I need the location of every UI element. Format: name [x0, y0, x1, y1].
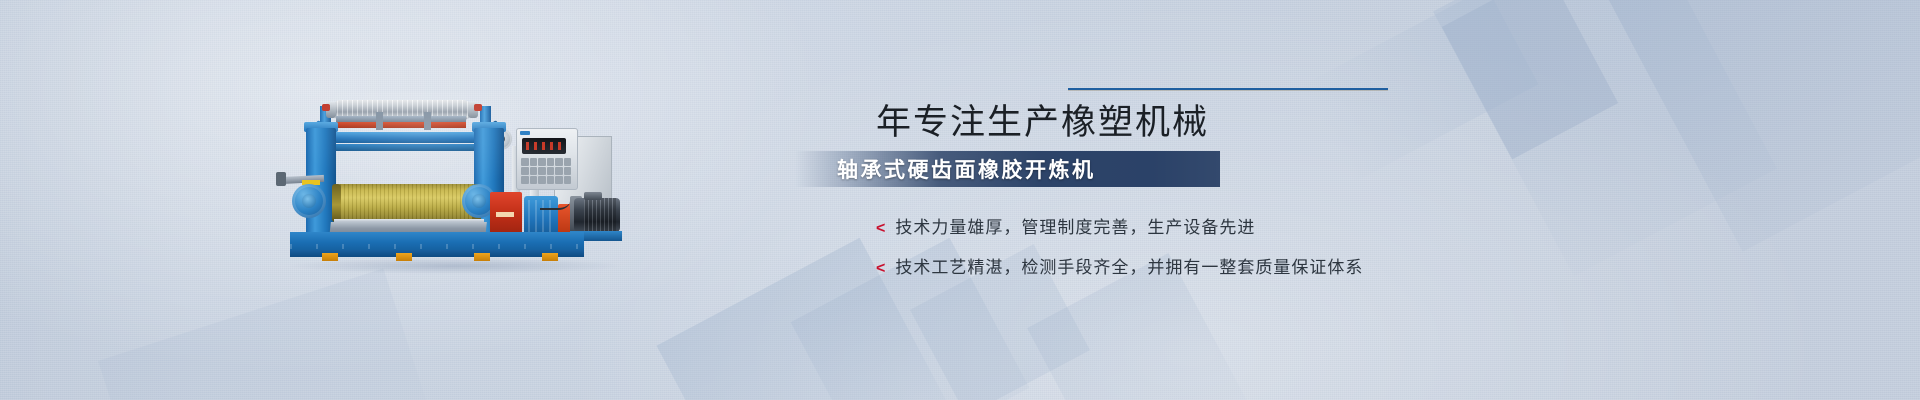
banner-copy: 年专注生产橡塑机械 轴承式硬齿面橡胶开炼机 < 技术力量雄厚，管理制度完善，生产… — [840, 88, 1840, 293]
feature-item-1: < 技术力量雄厚，管理制度完善，生产设备先进 — [876, 213, 1840, 238]
product-title-ribbon: 轴承式硬齿面橡胶开炼机 — [795, 151, 1220, 187]
feature-text-1: 技术力量雄厚，管理制度完善，生产设备先进 — [895, 213, 1255, 238]
machine-highlight — [284, 92, 626, 266]
feature-item-2: < 技术工艺精湛，检测手段齐全，并拥有一整套质量保证体系 — [876, 253, 1840, 278]
feature-list: < 技术力量雄厚，管理制度完善，生产设备先进 < 技术工艺精湛，检测手段齐全，并… — [840, 213, 1840, 278]
hero-banner: 年专注生产橡塑机械 轴承式硬齿面橡胶开炼机 < 技术力量雄厚，管理制度完善，生产… — [0, 0, 1920, 400]
product-title: 轴承式硬齿面橡胶开炼机 — [837, 154, 1096, 184]
chevron-left-icon: < — [876, 261, 885, 277]
banner-headline: 年专注生产橡塑机械 — [840, 101, 1840, 145]
feature-text-2: 技术工艺精湛，检测手段齐全，并拥有一整套质量保证体系 — [895, 253, 1363, 278]
headline-divider — [1068, 88, 1388, 91]
chevron-left-icon: < — [876, 221, 885, 237]
product-image — [284, 92, 626, 266]
